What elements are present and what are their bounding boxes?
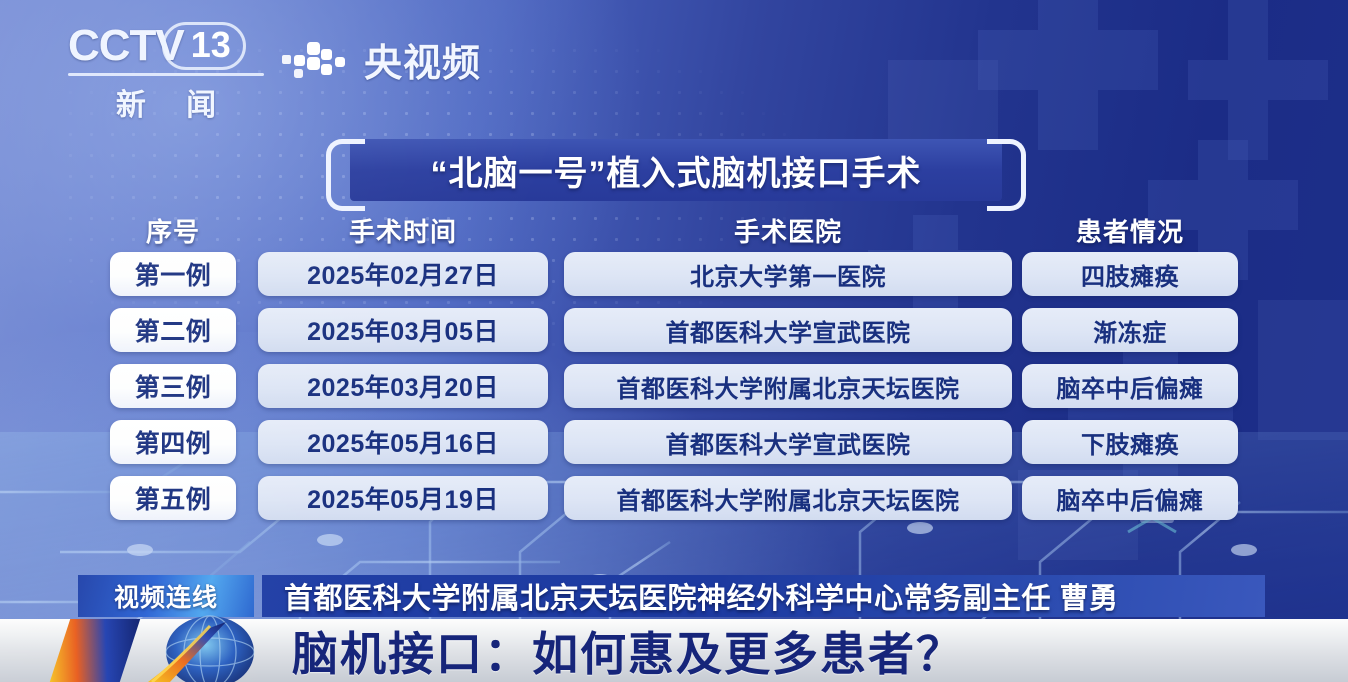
guest-name-banner: 首都医科大学附属北京天坛医院神经外科学中心常务副主任 曹勇: [262, 575, 1265, 617]
column-header-date: 手术时间: [258, 212, 548, 249]
headline-text: 脑机接口：如何惠及更多患者？: [292, 618, 964, 682]
cell-hospital: 首都医科大学宣武医院: [564, 420, 1012, 464]
column-header-hospital: 手术医院: [564, 212, 1012, 249]
cell-date: 2025年03月20日: [258, 364, 548, 408]
yangshipin-icon: [282, 37, 352, 83]
table-row: 第一例 2025年02月27日 北京大学第一医院 四肢瘫痪: [0, 252, 1348, 308]
cell-hospital: 首都医科大学附属北京天坛医院: [564, 476, 1012, 520]
program-emblem-icon: [148, 608, 266, 682]
cctv-logo-block: CCTV 13 新 闻: [68, 22, 264, 124]
cell-date: 2025年05月16日: [258, 420, 548, 464]
partner-logo-block: 央视频: [282, 32, 481, 87]
table-row: 第五例 2025年05月19日 首都医科大学附属北京天坛医院 脑卒中后偏瘫: [0, 476, 1348, 532]
surgery-table: 序号 手术时间 手术医院 患者情况 第一例 2025年02月27日 北京大学第一…: [0, 212, 1348, 532]
table-row: 第二例 2025年03月05日 首都医科大学宣武医院 渐冻症: [0, 308, 1348, 364]
page-title: “北脑一号”植入式脑机接口手术: [350, 139, 1002, 201]
table-row: 第三例 2025年03月20日 首都医科大学附属北京天坛医院 脑卒中后偏瘫: [0, 364, 1348, 420]
column-header-index: 序号: [110, 212, 236, 249]
cell-hospital: 首都医科大学附属北京天坛医院: [564, 364, 1012, 408]
cell-hospital: 首都医科大学宣武医院: [564, 308, 1012, 352]
channel-name-label: 新 闻: [68, 80, 264, 124]
table-row: 第四例 2025年05月16日 首都医科大学宣武医院 下肢瘫痪: [0, 420, 1348, 476]
cell-date: 2025年03月05日: [258, 308, 548, 352]
cell-condition: 下肢瘫痪: [1022, 420, 1238, 464]
chart-title-banner: “北脑一号”植入式脑机接口手术: [326, 139, 1026, 201]
cell-index: 第四例: [110, 420, 236, 464]
channel-logo: CCTV 13 新 闻 央视频: [68, 22, 481, 108]
table-header-row: 序号 手术时间 手术医院 患者情况: [0, 212, 1348, 252]
channel-number-badge: 13: [162, 22, 246, 70]
partner-name-label: 央视频: [364, 32, 481, 87]
column-header-condition: 患者情况: [1022, 212, 1238, 249]
cell-index: 第五例: [110, 476, 236, 520]
broadcast-screen: CCTV 13 新 闻 央视频: [0, 0, 1348, 682]
cell-condition: 脑卒中后偏瘫: [1022, 476, 1238, 520]
cell-condition: 脑卒中后偏瘫: [1022, 364, 1238, 408]
cell-date: 2025年02月27日: [258, 252, 548, 296]
logo-underline: [68, 73, 264, 76]
cell-index: 第二例: [110, 308, 236, 352]
cell-date: 2025年05月19日: [258, 476, 548, 520]
cctv-wordmark-row: CCTV 13: [68, 22, 264, 70]
cell-index: 第一例: [110, 252, 236, 296]
cell-condition: 渐冻症: [1022, 308, 1238, 352]
cell-condition: 四肢瘫痪: [1022, 252, 1238, 296]
cell-index: 第三例: [110, 364, 236, 408]
cell-hospital: 北京大学第一医院: [564, 252, 1012, 296]
